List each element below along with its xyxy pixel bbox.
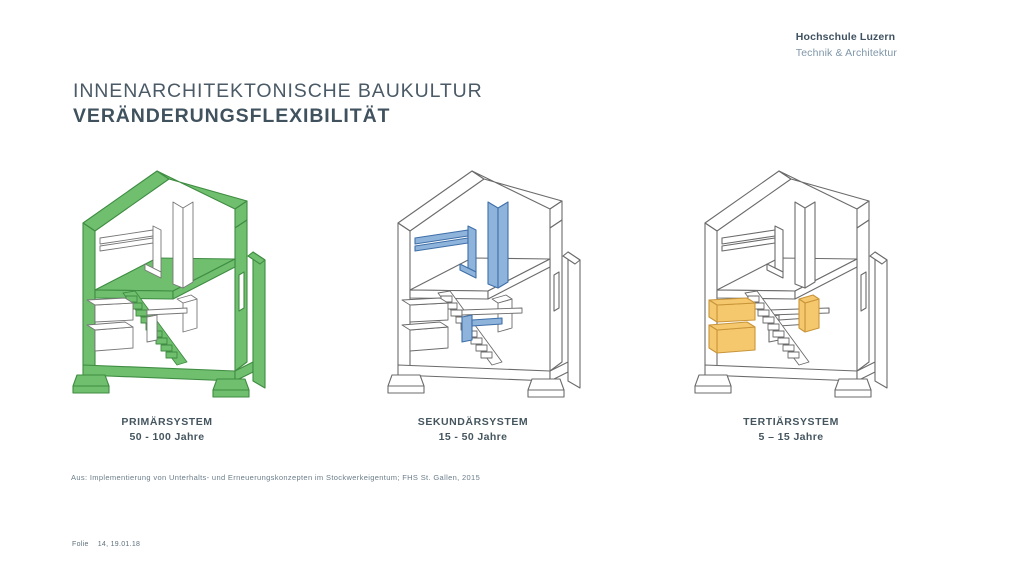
appliance-box-front <box>805 299 819 332</box>
service-duct-lower-run <box>472 318 502 326</box>
roof-right-slab <box>472 171 562 209</box>
attic-panel <box>153 226 161 272</box>
diagram-tertiaersystem <box>687 160 917 410</box>
caption-title: PRIMÄRSYSTEM <box>52 416 282 429</box>
logo-department: Technik & Architektur <box>796 47 897 60</box>
kitchen-counter <box>410 303 448 322</box>
title-line-2: VERÄNDERUNGSFLEXIBILITÄT <box>73 105 483 128</box>
roof-left-slab <box>83 171 169 231</box>
kitchen-counter <box>95 303 133 322</box>
footing-right <box>528 379 564 390</box>
footing-left <box>73 375 109 386</box>
service-duct-lower <box>462 315 472 342</box>
caption-tertiaersystem: TERTIÄRSYSTEM 5 – 15 Jahre <box>676 416 906 445</box>
footing-left-face <box>695 386 731 393</box>
footing-left-face <box>73 386 109 393</box>
diagram-row <box>0 160 1010 410</box>
right-wall-window <box>239 272 244 311</box>
service-duct <box>147 308 187 315</box>
source-citation: Aus: Implementierung von Unterhalts- und… <box>71 473 480 482</box>
outer-buttress-top <box>563 252 580 264</box>
upper-partition-wall-b <box>183 202 193 288</box>
caption-years: 15 - 50 Jahre <box>358 431 588 444</box>
partition-wall-upper-face <box>498 202 508 288</box>
right-wall-window <box>861 272 866 311</box>
footer-value: 14, 19.01.18 <box>98 541 141 548</box>
roof-left-slab <box>705 171 791 231</box>
page-title: INNENARCHITEKTONISCHE BAUKULTUR VERÄNDER… <box>73 80 483 128</box>
outer-buttress-top <box>870 252 887 264</box>
partition-wall-upper <box>795 202 805 288</box>
outer-buttress-top <box>248 252 265 264</box>
left-wall <box>83 223 95 372</box>
base-cabinet <box>410 327 448 351</box>
footing-right <box>213 379 249 390</box>
roof-right-slab <box>157 171 247 209</box>
caption-sekundaersystem: SEKUNDÄRSYSTEM 15 - 50 Jahre <box>358 416 588 445</box>
installation-riser <box>468 226 476 272</box>
diagram-primarysystem <box>65 160 295 410</box>
base-cabinet-side <box>709 325 717 353</box>
installation-riser <box>775 226 783 272</box>
footing-right-face <box>213 390 249 397</box>
caption-title: TERTIÄRSYSTEM <box>676 416 906 429</box>
footer-label: Folie <box>72 541 89 548</box>
diagram-sekundaersystem <box>380 160 610 410</box>
roof-left-slab <box>398 171 484 231</box>
outer-buttress <box>875 252 887 388</box>
caption-years: 50 - 100 Jahre <box>52 431 282 444</box>
logo: Hochschule Luzern Technik & Architektur <box>796 31 897 60</box>
slide-footer: Folie14, 19.01.18 <box>72 541 140 548</box>
base-cabinet-front <box>717 327 755 353</box>
upper-floor-ledge <box>462 308 522 315</box>
title-line-1: INNENARCHITEKTONISCHE BAUKULTUR <box>73 80 483 103</box>
right-wall-window <box>554 272 559 311</box>
footing-left-face <box>388 386 424 393</box>
caption-primarysystem: PRIMÄRSYSTEM 50 - 100 Jahre <box>52 416 282 445</box>
footing-left <box>388 375 424 386</box>
footing-right-face <box>528 390 564 397</box>
partition-wall-upper-face <box>805 202 815 288</box>
appliance-box-side <box>799 299 805 332</box>
kitchen-counter-front <box>717 303 755 322</box>
upper-partition-wall <box>173 202 183 288</box>
appliance-box <box>498 299 512 332</box>
appliance-box <box>183 299 197 332</box>
roof-right-slab <box>779 171 869 209</box>
logo-institution: Hochschule Luzern <box>796 31 897 44</box>
partition-wall-upper <box>488 202 498 288</box>
footing-right <box>835 379 871 390</box>
caption-years: 5 – 15 Jahre <box>676 431 906 444</box>
footing-right-face <box>835 390 871 397</box>
outer-buttress <box>568 252 580 388</box>
left-wall <box>398 223 410 372</box>
caption-title: SEKUNDÄRSYSTEM <box>358 416 588 429</box>
footing-left <box>695 375 731 386</box>
outer-buttress <box>253 252 265 388</box>
service-duct-2 <box>147 315 157 342</box>
base-cabinet <box>95 327 133 351</box>
